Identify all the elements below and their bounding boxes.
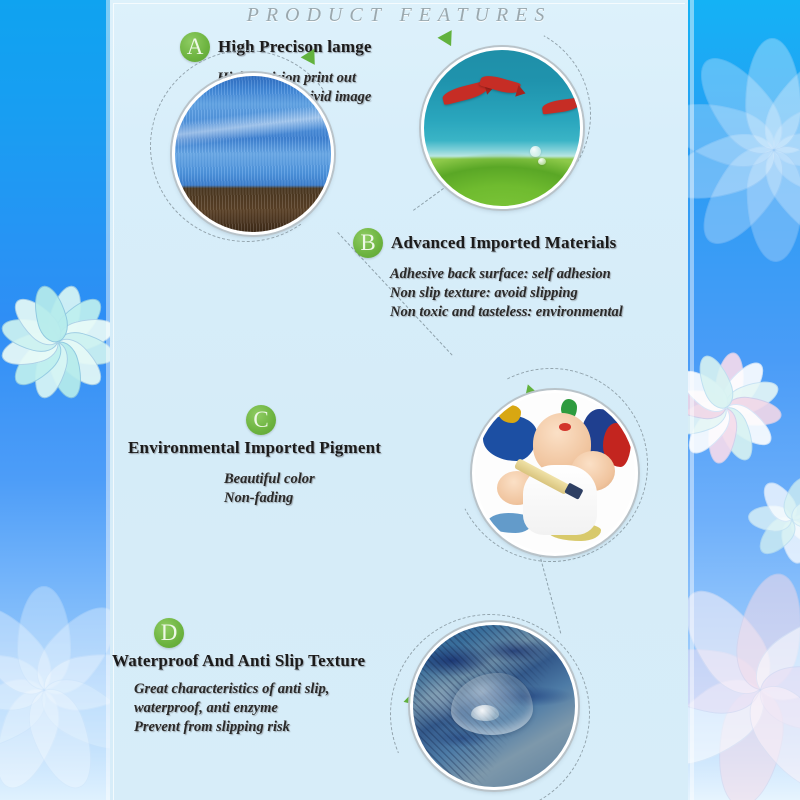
feature-c-photo bbox=[472, 390, 638, 556]
paint-dot-forehead bbox=[559, 423, 571, 431]
page-title: PRODUCT FEATURES bbox=[110, 4, 688, 27]
feature-b-heading-row: B Advanced Imported Materials bbox=[353, 228, 623, 258]
badge-d: D bbox=[154, 618, 184, 648]
feature-c-lines: Beautiful color Non-fading bbox=[224, 470, 381, 508]
feature-block-c: C Environmental Imported Pigment Beautif… bbox=[128, 405, 381, 508]
content-panel: PRODUCT FEATURES A High Precison lamge H… bbox=[110, 0, 688, 800]
feature-block-d: D Waterproof And Anti Slip Texture Great… bbox=[112, 618, 365, 737]
feature-a-photo bbox=[421, 47, 583, 209]
connector-c-to-d bbox=[539, 554, 561, 633]
water-bead-2 bbox=[538, 158, 546, 165]
feature-d-lines: Great characteristics of anti slip, wate… bbox=[134, 680, 365, 737]
feature-c-badge-row: C bbox=[246, 405, 381, 435]
feature-b-line-2: Non slip texture: avoid slipping bbox=[390, 284, 623, 303]
baby-painting-photo bbox=[475, 393, 635, 553]
feature-d-line-1: Great characteristics of anti slip, bbox=[134, 680, 365, 699]
fish-shape-3 bbox=[541, 97, 580, 114]
right-border-seam bbox=[690, 0, 694, 800]
feature-b-line-1: Adhesive back surface: self adhesion bbox=[390, 265, 623, 284]
feature-c-line-2: Non-fading bbox=[224, 489, 381, 508]
product-features-infographic: PRODUCT FEATURES A High Precison lamge H… bbox=[0, 0, 800, 800]
feature-b-photo bbox=[172, 73, 334, 235]
feature-b-heading: Advanced Imported Materials bbox=[391, 233, 616, 253]
feature-b-lines: Adhesive back surface: self adhesion Non… bbox=[390, 265, 623, 322]
fish-shape-2 bbox=[479, 73, 521, 97]
fabric-weave-texture bbox=[175, 76, 331, 232]
feature-d-heading: Waterproof And Anti Slip Texture bbox=[112, 651, 365, 671]
feature-d-line-3: Prevent from slipping risk bbox=[134, 718, 365, 737]
badge-c: C bbox=[246, 405, 276, 435]
water-bead-1 bbox=[530, 146, 541, 157]
left-decorative-border bbox=[0, 0, 110, 800]
right-decorative-border bbox=[688, 0, 800, 800]
feature-d-badge-row: D bbox=[154, 618, 365, 648]
feature-c-heading: Environmental Imported Pigment bbox=[128, 438, 381, 458]
feature-b-line-3: Non toxic and tasteless: environmental bbox=[390, 303, 623, 322]
feature-block-b: B Advanced Imported Materials Adhesive b… bbox=[353, 228, 623, 322]
feature-c-line-1: Beautiful color bbox=[224, 470, 381, 489]
feature-d-line-2: waterproof, anti enzyme bbox=[134, 699, 365, 718]
fish-lily-pad-photo bbox=[424, 50, 580, 206]
blue-fabric-roll-photo bbox=[175, 76, 331, 232]
badge-b: B bbox=[353, 228, 383, 258]
paint-splatter-yellow bbox=[499, 405, 521, 423]
water-droplet-texture-photo bbox=[413, 625, 575, 787]
flower-petal bbox=[744, 38, 800, 151]
feature-d-photo bbox=[410, 622, 578, 790]
